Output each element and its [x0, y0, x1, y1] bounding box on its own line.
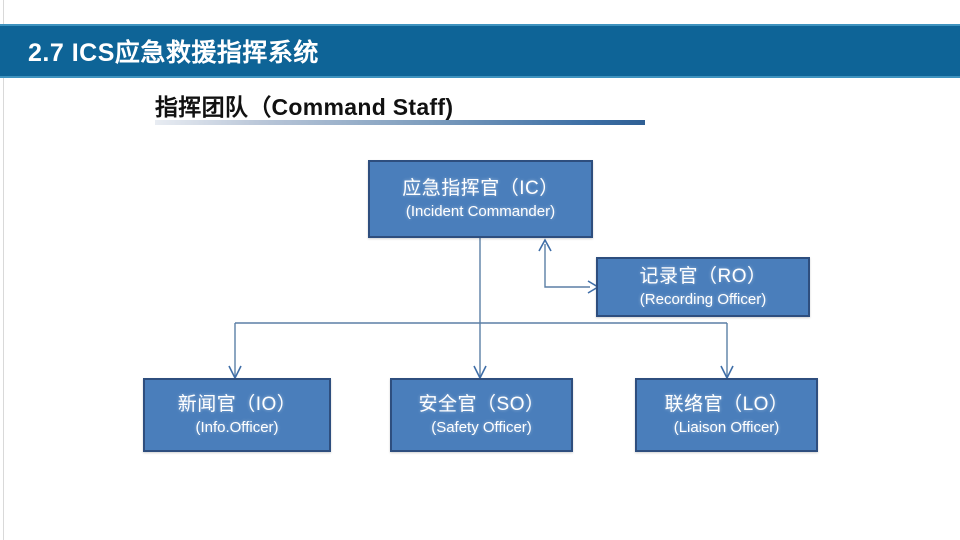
node-label-cn: 新闻官（IO）: [178, 393, 297, 417]
node-label-en: (Safety Officer): [431, 418, 532, 438]
slide-canvas: 2.7 ICS应急救援指挥系统 指挥团队（Command Staff): [0, 0, 960, 540]
edge-ic-ro: [545, 244, 590, 287]
section-subtitle: 指挥团队（Command Staff): [155, 88, 453, 122]
node-label-en: (Info.Officer): [195, 418, 278, 438]
page-title: 2.7 ICS应急救援指挥系统: [28, 33, 319, 69]
node-label-en: (Liaison Officer): [674, 418, 780, 438]
node-label-en: (Incident Commander): [406, 202, 555, 222]
section-underline: [155, 120, 645, 125]
node-label-cn: 安全官（SO）: [419, 393, 545, 417]
node-recording-officer[interactable]: 记录官（RO） (Recording Officer): [596, 257, 810, 317]
node-label-cn: 联络官（LO）: [665, 393, 789, 417]
node-liaison-officer[interactable]: 联络官（LO） (Liaison Officer): [635, 378, 818, 452]
node-incident-commander[interactable]: 应急指挥官（IC） (Incident Commander): [368, 160, 593, 238]
left-margin-rule: [3, 0, 4, 540]
arrowhead-ic-ro-up: [539, 240, 551, 251]
arrowhead-io-down: [229, 366, 241, 378]
connector-layer: [0, 0, 960, 540]
node-label-en: (Recording Officer): [640, 290, 766, 310]
header-banner: 2.7 ICS应急救援指挥系统: [0, 24, 960, 78]
node-label-cn: 应急指挥官（IC）: [402, 177, 559, 201]
node-info-officer[interactable]: 新闻官（IO） (Info.Officer): [143, 378, 331, 452]
arrowhead-lo-down: [721, 366, 733, 378]
arrowhead-so-down: [474, 366, 486, 378]
node-label-cn: 记录官（RO）: [639, 265, 766, 289]
node-safety-officer[interactable]: 安全官（SO） (Safety Officer): [390, 378, 573, 452]
